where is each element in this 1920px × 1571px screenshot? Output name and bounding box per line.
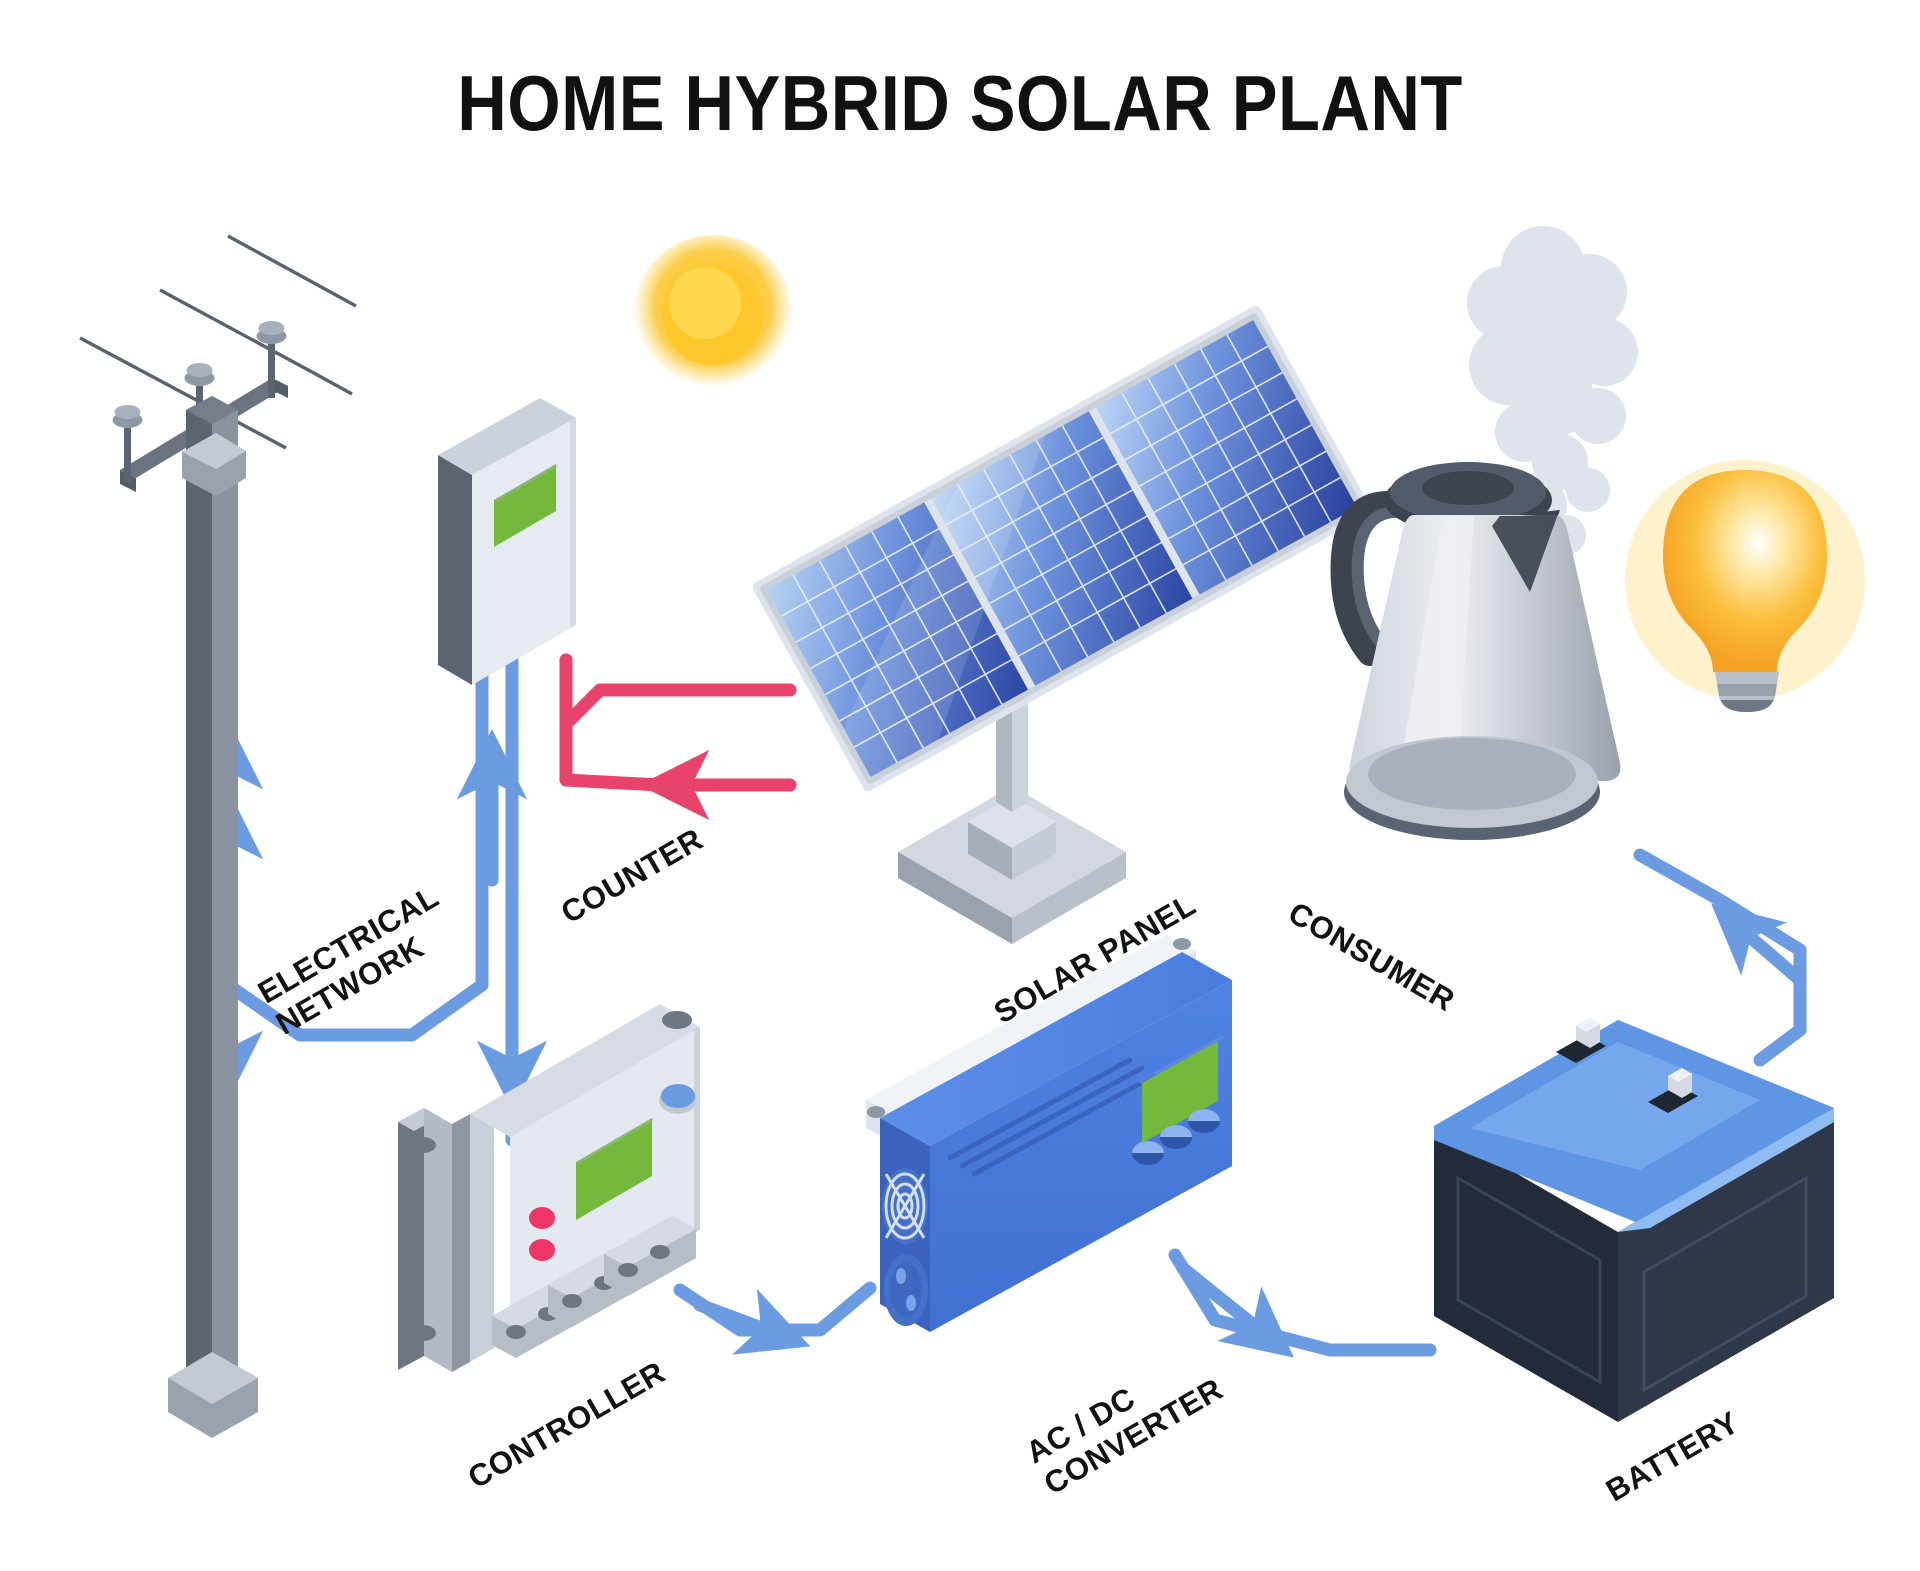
power-socket xyxy=(884,1254,928,1326)
kettle xyxy=(1344,226,1638,840)
flow-solar-to-counter-bend xyxy=(566,660,660,785)
electricity-counter xyxy=(438,398,576,685)
flow-solar-to-counter xyxy=(566,660,790,724)
flow-converter-to-battery xyxy=(1175,1255,1430,1350)
battery xyxy=(1434,1018,1834,1422)
light-bulb xyxy=(1625,460,1865,712)
power-pole xyxy=(80,236,356,1438)
charge-controller xyxy=(398,1004,700,1372)
solar-panel xyxy=(751,304,1374,944)
fan-grille xyxy=(882,1168,928,1244)
infographic-canvas: HOME HYBRID SOLAR PLANT xyxy=(0,0,1920,1571)
sun xyxy=(633,235,793,395)
diagram-illustrations xyxy=(0,0,1920,1571)
